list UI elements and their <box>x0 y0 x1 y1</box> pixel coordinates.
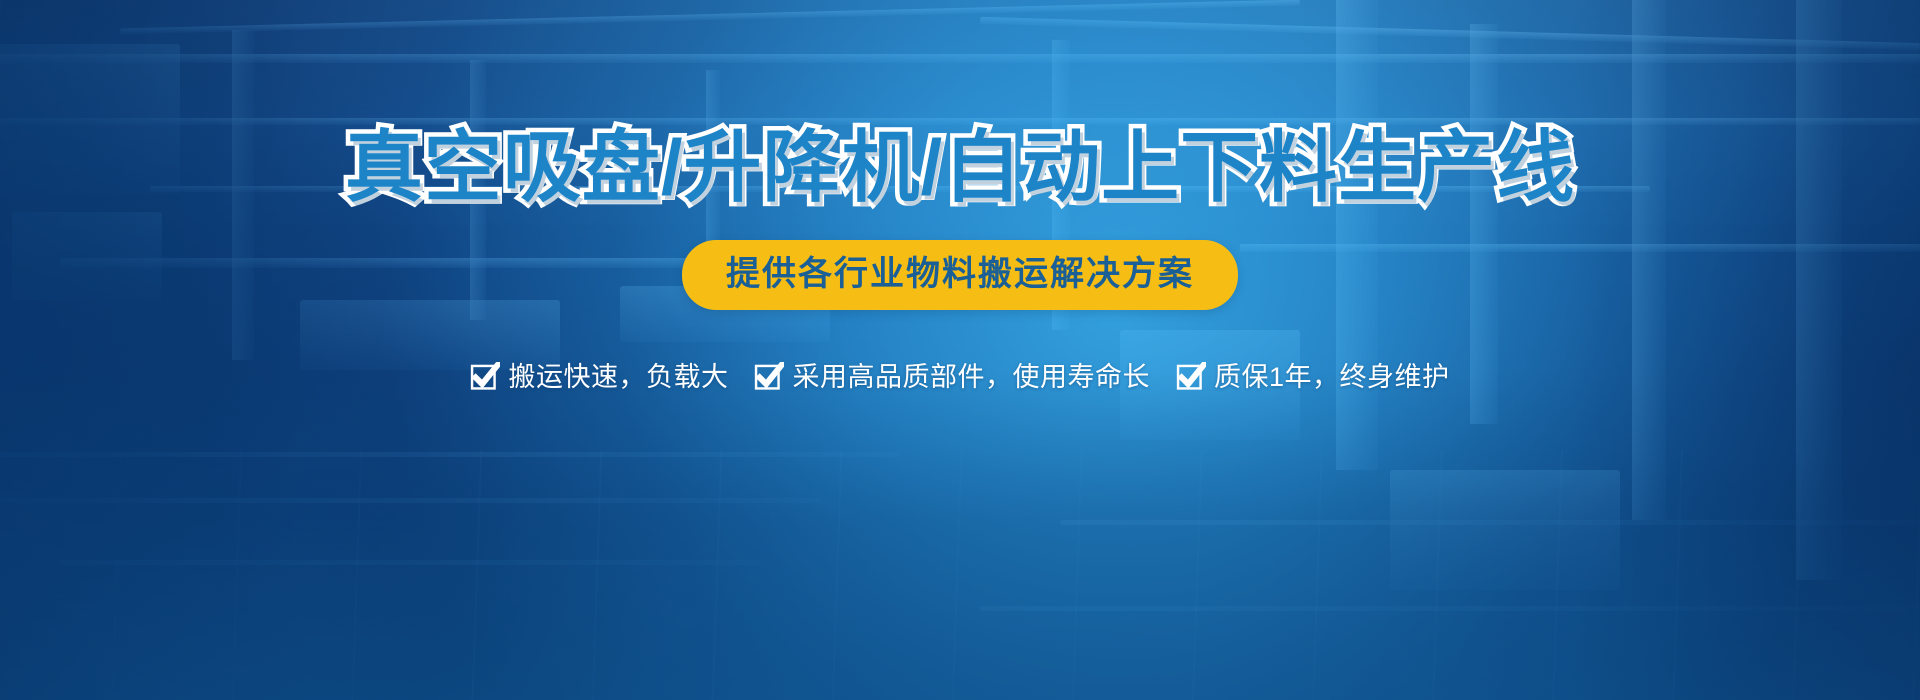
banner-title: 真空吸盘/升降机/自动上下料生产线 <box>345 128 1575 206</box>
feature-label: 搬运快速，负载大 <box>508 364 728 391</box>
check-square-icon <box>1176 362 1206 392</box>
feature-item: 质保1年，终身维护 <box>1176 362 1450 392</box>
banner-subtitle-row: 提供各行业物料搬运解决方案 <box>682 240 1238 310</box>
feature-item: 采用高品质部件，使用寿命长 <box>754 362 1150 392</box>
feature-label: 质保1年，终身维护 <box>1214 364 1450 391</box>
banner-content: 真空吸盘/升降机/自动上下料生产线 提供各行业物料搬运解决方案 搬运快速，负载大 <box>0 0 1920 700</box>
feature-label: 采用高品质部件，使用寿命长 <box>792 364 1150 391</box>
hero-banner: 真空吸盘/升降机/自动上下料生产线 提供各行业物料搬运解决方案 搬运快速，负载大 <box>0 0 1920 700</box>
check-square-icon <box>470 362 500 392</box>
feature-item: 搬运快速，负载大 <box>470 362 728 392</box>
feature-list: 搬运快速，负载大 采用高品质部件，使用寿命长 <box>470 362 1449 392</box>
check-square-icon <box>754 362 784 392</box>
subtitle-badge: 提供各行业物料搬运解决方案 <box>682 240 1238 310</box>
